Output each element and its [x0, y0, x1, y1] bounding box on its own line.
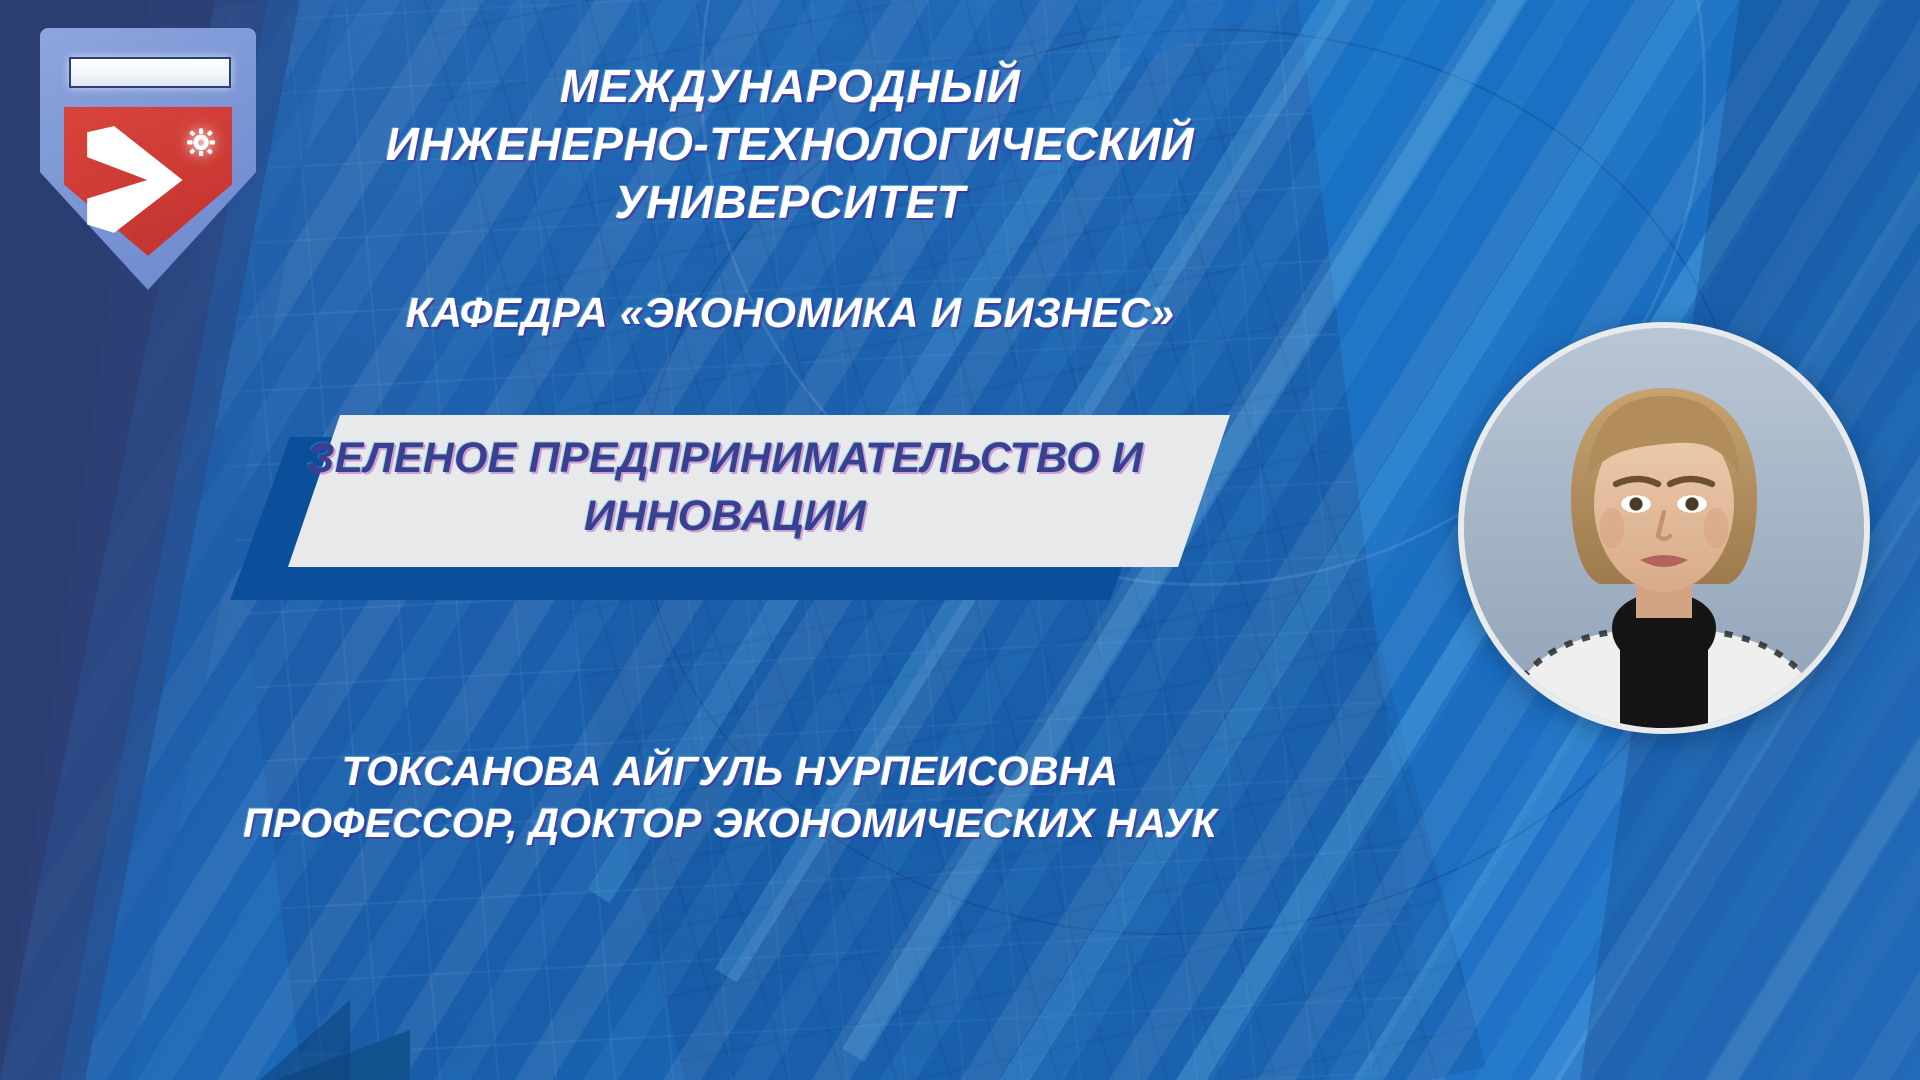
- university-heading-line-2: ИНЖЕНЕРНО-ТЕХНОЛОГИЧЕСКИЙ: [290, 116, 1290, 174]
- topic-line-2: ИННОВАЦИИ: [300, 487, 1150, 545]
- speaker-block: ТОКСАНОВА АЙГУЛЬ НУРПЕИСОВНА ПРОФЕССОР, …: [200, 745, 1260, 849]
- university-heading-line-3: УНИВЕРСИТЕТ: [290, 174, 1290, 232]
- topic-banner-text: ЗЕЛЕНОЕ ПРЕДПРИНИМАТЕЛЬСТВО И ИННОВАЦИИ: [300, 429, 1150, 545]
- presentation-slide: МЕЖДУНАРОДНЫЙ ИНЖЕНЕРНО-ТЕХНОЛОГИЧЕСКИЙ …: [0, 0, 1920, 1080]
- bottom-triangle-accent: [260, 1000, 350, 1080]
- speaker-title: ПРОФЕССОР, ДОКТОР ЭКОНОМИЧЕСКИХ НАУК: [200, 797, 1260, 849]
- topic-line-1: ЗЕЛЕНОЕ ПРЕДПРИНИМАТЕЛЬСТВО И: [300, 429, 1150, 487]
- chevron-right-icon: [83, 120, 187, 238]
- portrait-photo: [1464, 328, 1864, 728]
- university-shield-logo: [40, 28, 256, 290]
- speaker-portrait-avatar: [1458, 322, 1870, 734]
- speaker-name: ТОКСАНОВА АЙГУЛЬ НУРПЕИСОВНА: [200, 745, 1260, 797]
- topic-banner: ЗЕЛЕНОЕ ПРЕДПРИНИМАТЕЛЬСТВО И ИННОВАЦИИ: [230, 415, 1240, 600]
- university-heading-line-1: МЕЖДУНАРОДНЫЙ: [290, 58, 1290, 116]
- shield-top-bar: [69, 57, 231, 89]
- university-heading: МЕЖДУНАРОДНЫЙ ИНЖЕНЕРНО-ТЕХНОЛОГИЧЕСКИЙ …: [290, 58, 1290, 232]
- department-name: КАФЕДРА «ЭКОНОМИКА И БИЗНЕС»: [290, 288, 1290, 338]
- gear-icon: [187, 128, 215, 157]
